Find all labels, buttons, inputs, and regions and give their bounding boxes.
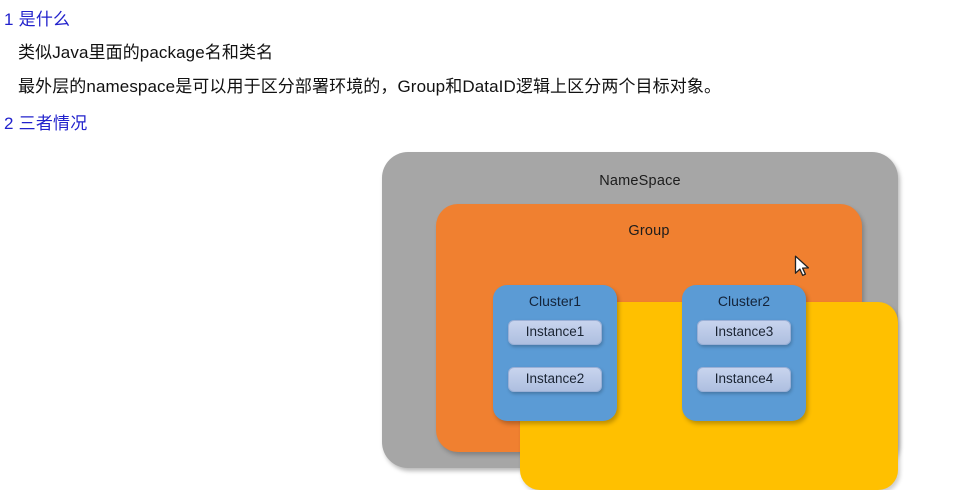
instance-box-4: Instance4 bbox=[697, 367, 791, 392]
paragraph-2: 最外层的namespace是可以用于区分部署环境的，Group和DataID逻辑… bbox=[0, 72, 721, 102]
namespace-layer: NameSpace Group Service bbox=[382, 152, 898, 468]
instance-label-3: Instance3 bbox=[698, 324, 790, 339]
section-title-1: 是什么 bbox=[19, 10, 71, 29]
instance-label-2: Instance2 bbox=[509, 371, 601, 386]
section-title-2: 三者情况 bbox=[19, 114, 88, 133]
section-heading-2: 2三者情况 bbox=[0, 110, 87, 138]
paragraph-1: 类似Java里面的package名和类名 bbox=[0, 38, 273, 68]
cluster-label-2: Cluster2 bbox=[682, 293, 806, 309]
cluster-box-2: Cluster2 Instance3 Instance4 bbox=[682, 285, 806, 421]
section-heading-1: 1是什么 bbox=[0, 6, 70, 34]
instance-box-2: Instance2 bbox=[508, 367, 602, 392]
cluster-label-1: Cluster1 bbox=[493, 293, 617, 309]
namespace-label: NameSpace bbox=[382, 173, 898, 189]
nacos-hierarchy-diagram: NameSpace Group Service Cluster1 Instanc… bbox=[382, 152, 898, 474]
instance-label-4: Instance4 bbox=[698, 371, 790, 386]
section-number-1: 1 bbox=[4, 10, 14, 29]
group-label: Group bbox=[436, 223, 862, 239]
section-number-2: 2 bbox=[4, 114, 14, 133]
cluster-box-1: Cluster1 Instance1 Instance2 bbox=[493, 285, 617, 421]
instance-box-3: Instance3 bbox=[697, 320, 791, 345]
instance-box-1: Instance1 bbox=[508, 320, 602, 345]
instance-label-1: Instance1 bbox=[509, 324, 601, 339]
